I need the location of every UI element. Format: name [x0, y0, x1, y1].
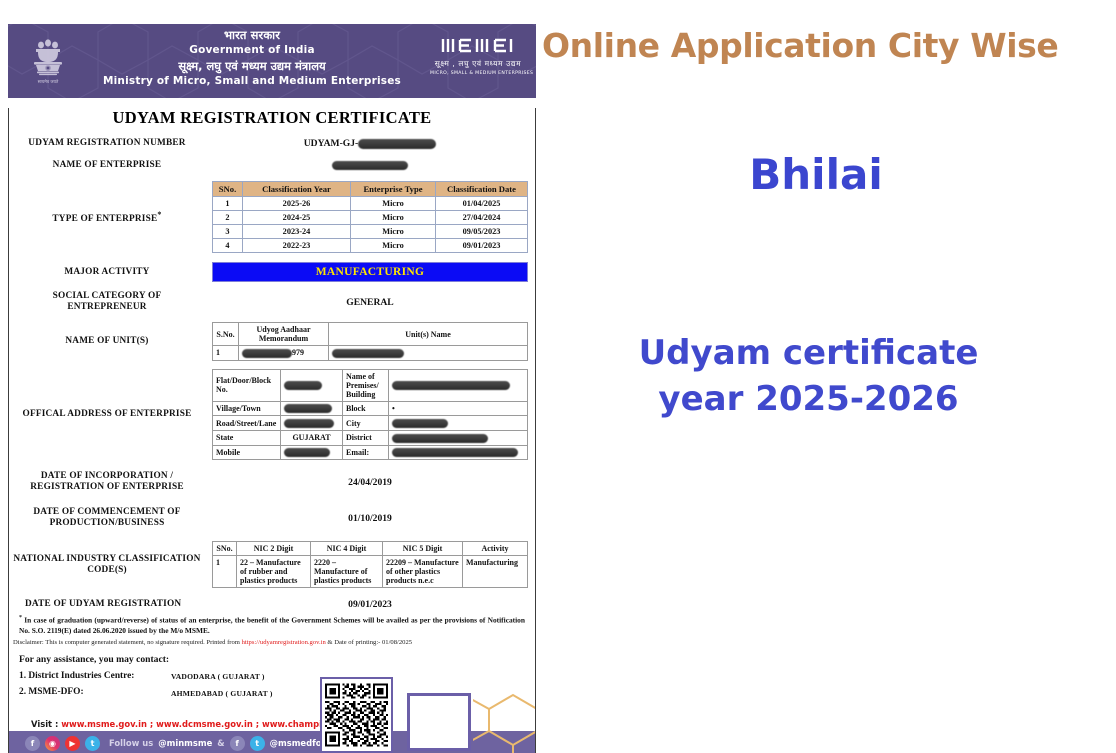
disclaimer-line: Disclaimer: This is computer generated s… — [9, 636, 535, 647]
redacted-uam-number — [242, 349, 292, 358]
label-date-of-incorporation: DATE OF INCORPORATION / REGISTRATION OF … — [9, 471, 205, 493]
table-row: Village/Town Block • — [213, 401, 528, 416]
label-type-of-enterprise-text: TYPE OF ENTERPRISE — [52, 214, 157, 224]
redacted-road — [284, 419, 334, 428]
cell-sno: 1 — [213, 197, 243, 211]
table-row: 1 22 – Manufacture of rubber and plastic… — [213, 556, 528, 588]
field-date-of-commencement: DATE OF COMMENCEMENT OF PRODUCTION/BUSIN… — [9, 507, 535, 529]
cell-nic-4-digit: 2220 – Manufacture of plastics products — [311, 556, 383, 588]
certificate-header-band: सत्यमेव जयते भारत सरकार Government of In… — [8, 24, 536, 98]
assistance-title: For any assistance, you may contact: — [9, 647, 535, 665]
subline-line-1: Udyam certificate — [536, 330, 1081, 376]
value-flat-door-block — [281, 369, 343, 401]
cell-units-sno: 1 — [213, 346, 239, 361]
value-major-activity: MANUFACTURING — [212, 262, 528, 282]
table-header-row: SNo. NIC 2 Digit NIC 4 Digit NIC 5 Digit… — [213, 542, 528, 556]
value-social-category: GENERAL — [205, 297, 535, 308]
table-row: 1 2025-26 Micro 01/04/2025 — [213, 197, 528, 211]
cell-year: 2022-23 — [243, 239, 351, 253]
subline-udyam-certificate-year: Udyam certificate year 2025-2026 — [536, 330, 1081, 422]
cell-sno: 3 — [213, 225, 243, 239]
label-city: City — [343, 416, 389, 431]
label-district: District — [343, 430, 389, 445]
type-of-enterprise-table: SNo. Classification Year Enterprise Type… — [212, 181, 528, 253]
redacted-udyam-number — [358, 139, 436, 149]
table-row: 3 2023-24 Micro 09/05/2023 — [213, 225, 528, 239]
cell-nic-5-digit: 22209 – Manufacture of other plastics pr… — [383, 556, 463, 588]
header-line-hindi-2: सूक्ष्म, लघु एवं मध्यम उद्यम मंत्रालय — [78, 58, 426, 74]
label-email: Email: — [343, 445, 389, 460]
visit-prefix: Visit : — [31, 719, 61, 729]
right-panel: Online Application City Wise Bhilai Udya… — [536, 0, 1116, 753]
label-official-address: OFFICAL ADDRESS OF ENTERPRISE — [9, 409, 205, 420]
ampersand: & — [217, 738, 224, 748]
screenshot-root: सत्यमेव जयते भारत सरकार Government of In… — [0, 0, 1116, 753]
disclaimer-prefix: Disclaimer: This is computer generated s… — [13, 639, 242, 646]
field-date-of-incorporation: DATE OF INCORPORATION / REGISTRATION OF … — [9, 471, 535, 493]
certificate-body: UDYAM REGISTRATION CERTIFICATE UDYAM REG… — [8, 108, 536, 753]
redacted-district — [392, 434, 488, 443]
youtube-icon[interactable]: ▶ — [65, 736, 80, 751]
value-email — [389, 445, 528, 460]
th-enterprise-type: Enterprise Type — [351, 182, 436, 197]
label-state: State — [213, 430, 281, 445]
field-udyam-registration-number: UDYAM REGISTRATION NUMBER UDYAM-GJ- — [9, 138, 535, 149]
cell-nic-2-digit: 22 – Manufacture of rubber and plastics … — [237, 556, 311, 588]
redacted-unit-name — [332, 349, 404, 358]
label-name-of-premises: Name of Premises/ Building — [343, 369, 389, 401]
assistance-label-dfo: 2. MSME-DFO: — [19, 687, 171, 698]
svg-text:सत्यमेव जयते: सत्यमेव जयते — [38, 79, 59, 84]
field-nic-codes: NATIONAL INDUSTRY CLASSIFICATION CODE(S)… — [9, 541, 535, 588]
udyam-portal-link[interactable]: https://udyamregistration.gov.in — [242, 639, 326, 646]
redacted-enterprise-name — [332, 161, 408, 170]
cell-uam: 979 — [239, 346, 329, 361]
label-name-of-enterprise: NAME OF ENTERPRISE — [9, 160, 205, 171]
value-name-of-enterprise — [205, 160, 535, 171]
th-nic-sno: SNo. — [213, 542, 237, 556]
units-table: S.No. Udyog Aadhaar Memorandum Unit(s) N… — [212, 322, 528, 361]
value-mobile — [281, 445, 343, 460]
redacted-village — [284, 404, 332, 413]
assistance-value-dic: VADODARA ( GUJARAT ) — [171, 671, 265, 682]
cell-year: 2024-25 — [243, 211, 351, 225]
assistance-label-dic: 1. District Industries Centre: — [19, 671, 171, 682]
th-nic-activity: Activity — [463, 542, 528, 556]
cell-sno: 2 — [213, 211, 243, 225]
cell-unit-name — [329, 346, 528, 361]
cell-year: 2023-24 — [243, 225, 351, 239]
header-ministry-text: भारत सरकार Government of India सूक्ष्म, … — [78, 28, 426, 89]
label-social-category: SOCIAL CATEGORY OF ENTREPRENEUR — [9, 291, 205, 313]
value-road-street-lane — [281, 416, 343, 431]
label-block: Block — [343, 401, 389, 416]
footnote-star: * — [19, 615, 22, 621]
th-unit-name: Unit(s) Name — [329, 323, 528, 346]
msme-logo: सूक्ष्म , लघु एवं मध्यम उद्यम MICRO, SMA… — [430, 34, 526, 76]
hexagon-decoration-right — [473, 683, 535, 753]
value-date-of-incorporation: 24/04/2019 — [205, 477, 535, 488]
subline-line-2: year 2025-2026 — [536, 376, 1081, 422]
label-mobile: Mobile — [213, 445, 281, 460]
label-road-street-lane: Road/Street/Lane — [213, 416, 281, 431]
value-name-of-premises — [389, 369, 528, 401]
facebook-icon-2[interactable]: f — [230, 736, 245, 751]
graduation-footnote: * In case of graduation (upward/reverse)… — [9, 610, 535, 635]
redacted-flat-no — [284, 381, 322, 390]
redacted-premises — [392, 381, 510, 390]
label-date-of-udyam-registration: DATE OF UDYAM REGISTRATION — [9, 599, 205, 610]
field-social-category: SOCIAL CATEGORY OF ENTREPRENEUR GENERAL — [9, 291, 535, 313]
city-name: Bhilai — [536, 150, 1096, 199]
value-udyam-registration-number: UDYAM-GJ- — [205, 138, 535, 149]
cell-sno: 4 — [213, 239, 243, 253]
assistance-item-dic: 1. District Industries Centre: VADODARA … — [9, 665, 535, 682]
label-village-town: Village/Town — [213, 401, 281, 416]
label-date-of-commencement: DATE OF COMMENCEMENT OF PRODUCTION/BUSIN… — [9, 507, 205, 529]
cell-type: Micro — [351, 211, 436, 225]
field-name-of-enterprise: NAME OF ENTERPRISE — [9, 160, 535, 171]
field-date-of-udyam-registration: DATE OF UDYAM REGISTRATION 09/01/2023 — [9, 599, 535, 610]
field-major-activity: MAJOR ACTIVITY MANUFACTURING — [9, 262, 535, 282]
cell-date: 27/04/2024 — [436, 211, 528, 225]
th-udyog-aadhaar-memorandum: Udyog Aadhaar Memorandum — [239, 323, 329, 346]
th-sno: SNo. — [213, 182, 243, 197]
cell-year: 2025-26 — [243, 197, 351, 211]
cell-type: Micro — [351, 197, 436, 211]
handle-msmedfo[interactable]: @msmedfo — [270, 738, 322, 748]
table-row: 4 2022-23 Micro 09/01/2023 — [213, 239, 528, 253]
facebook-icon[interactable]: f — [25, 736, 40, 751]
table-row: Flat/Door/Block No. Name of Premises/ Bu… — [213, 369, 528, 401]
table-row: State GUJARAT District — [213, 430, 528, 445]
follow-us-text: Follow us — [109, 738, 153, 748]
cell-date: 09/05/2023 — [436, 225, 528, 239]
table-row: 2 2024-25 Micro 27/04/2024 — [213, 211, 528, 225]
table-header-row: S.No. Udyog Aadhaar Memorandum Unit(s) N… — [213, 323, 528, 346]
nic-table: SNo. NIC 2 Digit NIC 4 Digit NIC 5 Digit… — [212, 541, 528, 588]
th-nic-4-digit: NIC 4 Digit — [311, 542, 383, 556]
cell-nic-activity: Manufacturing — [463, 556, 528, 588]
th-units-sno: S.No. — [213, 323, 239, 346]
qr-code[interactable] — [320, 677, 393, 753]
udyam-number-prefix: UDYAM-GJ- — [304, 138, 359, 149]
headline-online-application-city-wise: Online Application City Wise — [542, 26, 1114, 65]
value-date-of-commencement: 01/10/2019 — [205, 513, 535, 524]
value-district — [389, 430, 528, 445]
header-line-english-1: Government of India — [78, 43, 426, 58]
field-official-address: OFFICAL ADDRESS OF ENTERPRISE Flat/Door/… — [9, 369, 535, 461]
msme-logo-hindi: सूक्ष्म , लघु एवं मध्यम उद्यम — [430, 59, 526, 69]
th-classification-year: Classification Year — [243, 182, 351, 197]
address-table: Flat/Door/Block No. Name of Premises/ Bu… — [212, 369, 528, 461]
th-nic-2-digit: NIC 2 Digit — [237, 542, 311, 556]
table-row: Mobile Email: — [213, 445, 528, 460]
instagram-icon[interactable]: ◉ — [45, 736, 60, 751]
field-name-of-units: NAME OF UNIT(S) S.No. Udyog Aadhaar Memo… — [9, 322, 535, 361]
msme-logo-mark — [430, 34, 526, 56]
label-major-activity: MAJOR ACTIVITY — [9, 267, 205, 278]
label-name-of-units: NAME OF UNIT(S) — [9, 336, 205, 347]
table-row: Road/Street/Lane City — [213, 416, 528, 431]
cell-date: 09/01/2023 — [436, 239, 528, 253]
value-block: • — [389, 401, 528, 416]
field-type-of-enterprise: TYPE OF ENTERPRISE* SNo. Classification … — [9, 181, 535, 253]
msme-logo-english: MICRO, SMALL & MEDIUM ENTERPRISES — [430, 71, 526, 76]
cell-type: Micro — [351, 225, 436, 239]
value-state: GUJARAT — [281, 430, 343, 445]
cell-date: 01/04/2025 — [436, 197, 528, 211]
value-village-town — [281, 401, 343, 416]
udyam-registration-certificate-image: सत्यमेव जयते भारत सरकार Government of In… — [8, 24, 536, 746]
cell-type: Micro — [351, 239, 436, 253]
label-type-of-enterprise: TYPE OF ENTERPRISE* — [9, 209, 205, 225]
footnote-star-marker: * — [157, 210, 161, 219]
twitter-icon[interactable]: t — [85, 736, 100, 751]
redacted-city — [392, 419, 448, 428]
th-classification-date: Classification Date — [436, 182, 528, 197]
header-line-english-2: Ministry of Micro, Small and Medium Ente… — [78, 74, 426, 89]
twitter-icon-2[interactable]: t — [250, 736, 265, 751]
disclaimer-suffix: & Date of printing:- 01/08/2025 — [326, 639, 412, 646]
footnote-text: In case of graduation (upward/reverse) o… — [19, 616, 525, 635]
handle-minmsme[interactable]: @minmsme — [158, 738, 212, 748]
assistance-value-dfo: AHMEDABAD ( GUJARAT ) — [171, 687, 273, 698]
table-header-row: SNo. Classification Year Enterprise Type… — [213, 182, 528, 197]
redacted-email — [392, 448, 518, 457]
value-city — [389, 416, 528, 431]
redacted-mobile — [284, 448, 330, 457]
table-row: 1 979 — [213, 346, 528, 361]
label-flat-door-block: Flat/Door/Block No. — [213, 369, 281, 401]
uam-suffix: 979 — [292, 348, 304, 357]
label-nic-codes: NATIONAL INDUSTRY CLASSIFICATION CODE(S) — [9, 554, 205, 576]
certificate-title: UDYAM REGISTRATION CERTIFICATE — [9, 108, 535, 128]
label-udyam-registration-number: UDYAM REGISTRATION NUMBER — [9, 138, 205, 149]
qr-code-image — [325, 682, 388, 748]
national-emblem-icon: सत्यमेव जयते — [24, 30, 72, 92]
th-nic-5-digit: NIC 5 Digit — [383, 542, 463, 556]
header-line-hindi-1: भारत सरकार — [78, 28, 426, 43]
value-date-of-udyam-registration: 09/01/2023 — [205, 599, 535, 610]
cell-nic-sno: 1 — [213, 556, 237, 588]
empty-signature-box — [407, 693, 471, 751]
